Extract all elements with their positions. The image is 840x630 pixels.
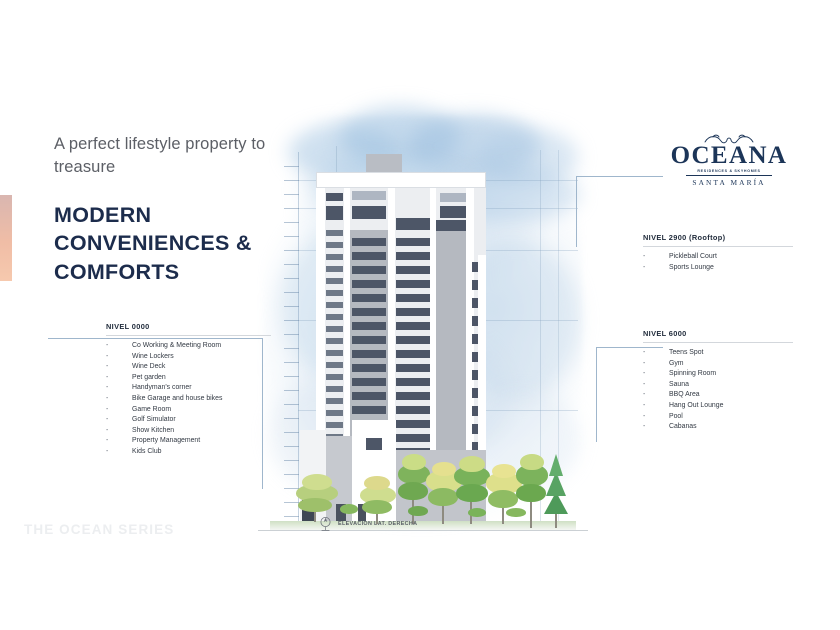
list-item: -Game Room (106, 405, 271, 416)
ruler-tick (284, 348, 299, 349)
balcony-floor (326, 278, 343, 284)
north-arrow-icon (318, 515, 333, 532)
balcony-floor (352, 336, 386, 344)
list-item-label: Wine Lockers (132, 352, 174, 363)
balcony-floor (396, 420, 430, 428)
list-bullet: - (106, 362, 132, 373)
ruler-tick (284, 404, 299, 405)
tower-crown (316, 172, 486, 188)
ruler-tick (284, 502, 299, 503)
glass-band (436, 220, 466, 231)
list-bullet: - (643, 348, 669, 359)
list-bullet: - (106, 394, 132, 405)
ruler-tick (284, 292, 299, 293)
logo-tagline: RESIDENCES & SKYHOMES (669, 169, 789, 173)
list-item: -Pet garden (106, 373, 271, 384)
callout-rule (643, 342, 793, 343)
list-item-label: Golf Simulator (132, 415, 176, 426)
list-bullet: - (643, 390, 669, 401)
slide-canvas: A perfect lifestyle property to treasure… (0, 0, 840, 630)
list-bullet: - (106, 405, 132, 416)
balcony-floor (326, 350, 343, 356)
window-unit (472, 316, 478, 326)
list-bullet: - (106, 352, 132, 363)
balcony-floor (396, 280, 430, 288)
list-bullet: - (643, 359, 669, 370)
ruler-tick (284, 278, 299, 279)
ruler-tick (284, 236, 299, 237)
glass-band (326, 193, 343, 201)
balcony-floor (326, 374, 343, 380)
list-bullet: - (643, 412, 669, 423)
ruler-tick (284, 516, 299, 517)
list-item-label: Co Working & Meeting Room (132, 341, 221, 352)
ruler-tick (284, 474, 299, 475)
window-unit (472, 424, 478, 434)
list-item: -Co Working & Meeting Room (106, 341, 271, 352)
ruler-tick (284, 194, 299, 195)
ruler-tick (284, 432, 299, 433)
balcony-floor (352, 308, 386, 316)
window-unit (472, 298, 478, 308)
list-item-label: BBQ Area (669, 390, 700, 401)
list-item: -Hang Out Lounge (643, 401, 793, 412)
window-unit (472, 334, 478, 344)
list-item: -Golf Simulator (106, 415, 271, 426)
balcony-floor (326, 230, 343, 236)
balcony-floor (326, 302, 343, 308)
ruler-tick (284, 166, 299, 167)
balcony-floor (326, 314, 343, 320)
ruler-tick (284, 250, 299, 251)
callout-title: NIVEL 6000 (643, 329, 793, 338)
glass-band (396, 218, 430, 230)
ruler-tick (284, 460, 299, 461)
ruler-tick (284, 180, 299, 181)
list-item-label: Wine Deck (132, 362, 165, 373)
list-bullet: - (106, 373, 132, 384)
list-item: -Wine Lockers (106, 352, 271, 363)
balcony-floor (326, 326, 343, 332)
balcony-floor (396, 434, 430, 442)
list-item-label: Pool (669, 412, 683, 423)
list-bullet: - (643, 401, 669, 412)
list-bullet: - (643, 369, 669, 380)
balcony-floor (352, 252, 386, 260)
balcony-floor (326, 386, 343, 392)
balcony-floor (326, 266, 343, 272)
logo-divider (686, 175, 772, 176)
list-item: -BBQ Area (643, 390, 793, 401)
flourish-icon (669, 132, 789, 144)
balcony-floor (352, 378, 386, 386)
balcony-floor (396, 252, 430, 260)
amenity-list: -Pickleball Court -Sports Lounge (643, 252, 793, 273)
list-item: -Spinning Room (643, 369, 793, 380)
list-item-label: Game Room (132, 405, 171, 416)
building-rendering (240, 80, 600, 550)
list-item-label: Spinning Room (669, 369, 716, 380)
callout-nivel-2900: NIVEL 2900 (Rooftop) -Pickleball Court -… (643, 233, 793, 273)
accent-bar (0, 195, 12, 281)
list-item: -Property Management (106, 436, 271, 447)
list-bullet: - (106, 436, 132, 447)
balcony-floor (326, 398, 343, 404)
balcony-floor (396, 392, 430, 400)
ruler-tick (284, 320, 299, 321)
ruler-tick (284, 264, 299, 265)
list-bullet: - (106, 415, 132, 426)
callout-rule (106, 335, 271, 336)
glass-band (352, 191, 386, 200)
balcony-floor (326, 410, 343, 416)
balcony-floor (396, 336, 430, 344)
list-bullet: - (643, 252, 669, 263)
ruler-tick (284, 390, 299, 391)
glass-band (440, 193, 466, 202)
series-watermark: THE OCEAN SERIES (24, 522, 174, 537)
brand-logo: OCEANA RESIDENCES & SKYHOMES SANTA MARÍA (669, 132, 789, 187)
list-item-label: Sauna (669, 380, 689, 391)
list-bullet: - (643, 422, 669, 433)
balcony-floor (396, 266, 430, 274)
list-item: -Cabanas (643, 422, 793, 433)
ruler-tick (284, 306, 299, 307)
ruler-tick (284, 222, 299, 223)
balcony-floor (352, 350, 386, 358)
balcony-floor (396, 350, 430, 358)
balcony-floor (396, 378, 430, 386)
balcony-floor (352, 364, 386, 372)
glass-band (352, 206, 386, 219)
drawing-caption: ELEVACION LAT. DERECHA (318, 515, 417, 532)
list-item-label: Pet garden (132, 373, 166, 384)
list-item-label: Property Management (132, 436, 200, 447)
list-item-label: Teens Spot (669, 348, 703, 359)
rooftop-bulkhead (366, 154, 402, 174)
list-bullet: - (643, 263, 669, 274)
list-item-label: Show Kitchen (132, 426, 174, 437)
ruler-tick (284, 446, 299, 447)
ground-line (258, 530, 588, 531)
logo-wordmark: OCEANA (669, 143, 789, 168)
window-unit (472, 370, 478, 380)
list-item: -Sports Lounge (643, 263, 793, 274)
ruler-tick (284, 376, 299, 377)
list-item-label: Handyman's corner (132, 383, 192, 394)
balcony-floor (326, 242, 343, 248)
list-item: -Wine Deck (106, 362, 271, 373)
balcony-floor (326, 362, 343, 368)
list-bullet: - (106, 383, 132, 394)
list-item-label: Gym (669, 359, 684, 370)
list-item-label: Bike Garage and house bikes (132, 394, 222, 405)
balcony-floor (352, 322, 386, 330)
balcony-floor (352, 392, 386, 400)
list-bullet: - (106, 447, 132, 458)
list-item: -Pickleball Court (643, 252, 793, 263)
list-bullet: - (106, 426, 132, 437)
list-item: -Bike Garage and house bikes (106, 394, 271, 405)
balcony-floor (352, 294, 386, 302)
balcony-floor (396, 322, 430, 330)
balcony-floor (396, 364, 430, 372)
window-unit (472, 280, 478, 290)
list-item-label: Cabanas (669, 422, 697, 433)
window-unit (472, 388, 478, 398)
balcony-floor (326, 422, 343, 428)
list-item: -Pool (643, 412, 793, 423)
list-item-label: Kids Club (132, 447, 162, 458)
caption-label: ELEVACION LAT. DERECHA (338, 521, 417, 527)
list-item: -Show Kitchen (106, 426, 271, 437)
callout-title: NIVEL 0000 (106, 322, 271, 331)
glass-band (326, 206, 343, 220)
balcony-floor (352, 266, 386, 274)
list-item-label: Pickleball Court (669, 252, 717, 263)
balcony-floor (352, 280, 386, 288)
glass-band (440, 206, 466, 218)
list-item: -Kids Club (106, 447, 271, 458)
balcony-floor (326, 290, 343, 296)
balcony-floor (396, 238, 430, 246)
ruler-tick (284, 208, 299, 209)
amenity-list: -Teens Spot -Gym -Spinning Room -Sauna -… (643, 348, 793, 433)
list-item: -Gym (643, 359, 793, 370)
list-bullet: - (106, 341, 132, 352)
balcony-floor (396, 406, 430, 414)
callout-title: NIVEL 2900 (Rooftop) (643, 233, 793, 242)
callout-nivel-6000: NIVEL 6000 -Teens Spot -Gym -Spinning Ro… (643, 329, 793, 433)
ruler-tick (284, 334, 299, 335)
balcony-floor (396, 294, 430, 302)
balcony-floor (352, 406, 386, 414)
window-unit (472, 352, 478, 362)
list-item-label: Sports Lounge (669, 263, 714, 274)
list-item: -Sauna (643, 380, 793, 391)
ruler-tick (284, 418, 299, 419)
balcony-floor (326, 338, 343, 344)
list-item: -Handyman's corner (106, 383, 271, 394)
balcony-floor (396, 308, 430, 316)
ruler-tick (284, 362, 299, 363)
callout-rule (643, 246, 793, 247)
amenity-list: -Co Working & Meeting Room -Wine Lockers… (106, 341, 271, 458)
callout-nivel-0000: NIVEL 0000 -Co Working & Meeting Room -W… (106, 322, 271, 458)
window-unit (472, 262, 478, 272)
list-item: -Teens Spot (643, 348, 793, 359)
balcony-floor (352, 238, 386, 246)
podium-window (366, 438, 382, 450)
window-unit (472, 406, 478, 416)
list-bullet: - (643, 380, 669, 391)
list-item-label: Hang Out Lounge (669, 401, 723, 412)
logo-location: SANTA MARÍA (669, 178, 789, 187)
balcony-floor (326, 254, 343, 260)
